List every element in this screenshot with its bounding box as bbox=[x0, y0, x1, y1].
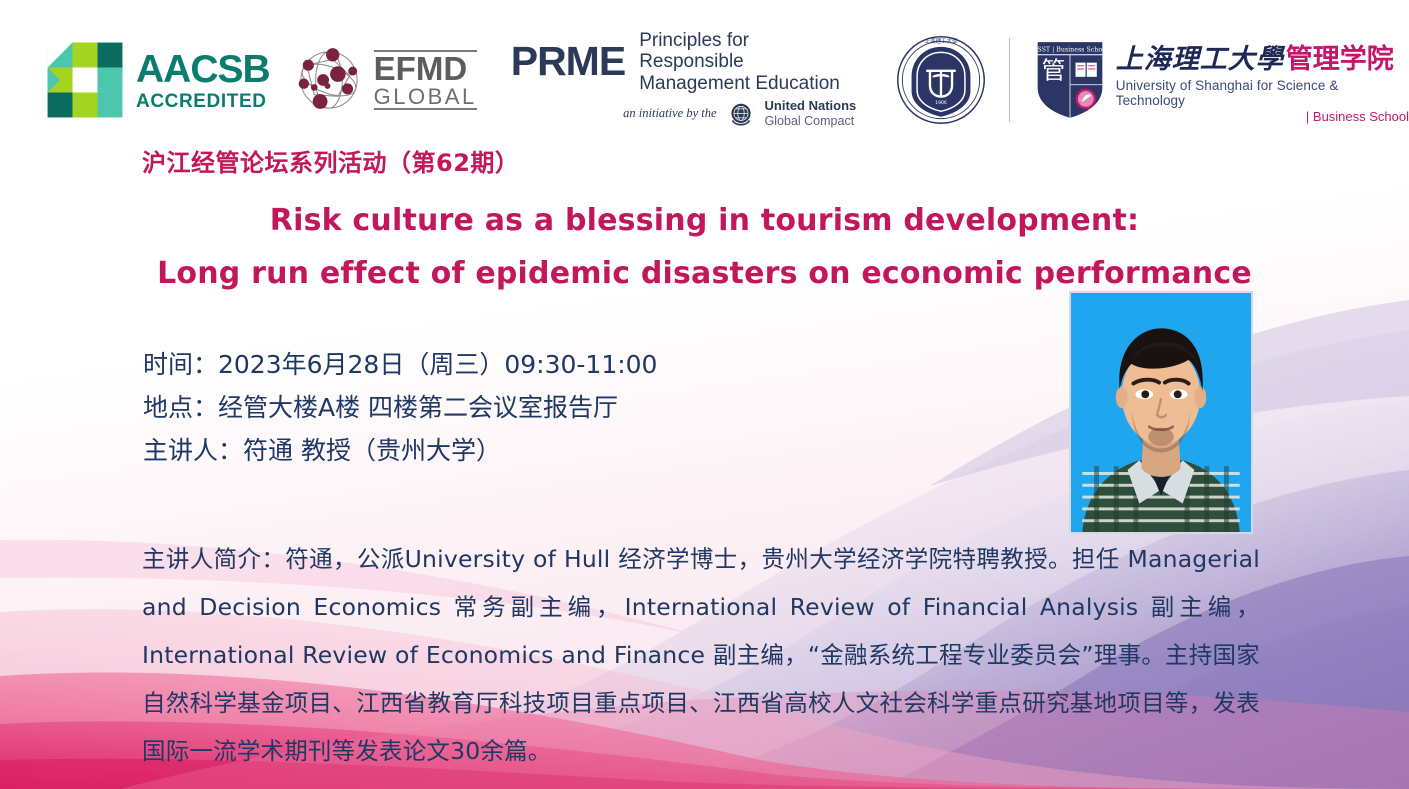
usst-cn-university-name: 上海理工大學 bbox=[1116, 37, 1284, 76]
efmd-network-globe-icon bbox=[292, 43, 366, 117]
efmd-logo: EFMD GLOBAL bbox=[292, 43, 477, 117]
efmd-wordmark: EFMD bbox=[374, 52, 477, 86]
prme-tagline-line2: Management Education bbox=[639, 73, 857, 94]
usst-business-school-crest-icon: USST | Business School 管 bbox=[1034, 39, 1106, 121]
seminar-poster: AACSB ACCREDITED bbox=[0, 0, 1409, 789]
title-line-1: Risk culture as a blessing in tourism de… bbox=[0, 195, 1409, 248]
prme-logo: PRME Principles for Responsible Manageme… bbox=[511, 30, 857, 130]
event-details: 时间：2023年6月28日（周三）09:30-11:00 地点：经管大楼A楼 四… bbox=[143, 343, 657, 472]
aacsb-accredited-label: ACCREDITED bbox=[136, 92, 270, 111]
svg-text:管: 管 bbox=[1041, 56, 1065, 84]
prme-tagline-line1: Principles for Responsible bbox=[639, 30, 857, 73]
aacsb-square-mark-icon bbox=[46, 41, 124, 119]
speaker-biography: 主讲人简介：符通，公派University of Hull 经济学博士，贵州大学… bbox=[142, 536, 1260, 776]
prme-wordmark: PRME bbox=[511, 38, 625, 85]
efmd-global-label: GLOBAL bbox=[374, 85, 477, 108]
usst-en-school-name: | Business School bbox=[1116, 109, 1409, 124]
usst-en-university-name: University of Shanghai for Science & Tec… bbox=[1116, 78, 1409, 108]
event-speaker: 主讲人：符通 教授（贵州大学） bbox=[143, 429, 657, 472]
speaker-portrait bbox=[1069, 291, 1253, 534]
un-global-compact-line1: United Nations bbox=[765, 99, 857, 114]
svg-text:1906: 1906 bbox=[935, 100, 947, 106]
usst-business-school-logo: USST | Business School 管 bbox=[1034, 37, 1409, 124]
un-globe-icon bbox=[725, 98, 757, 130]
svg-text:上海理工大學: 上海理工大學 bbox=[924, 37, 958, 45]
forum-series-label: 沪江经管论坛系列活动（第62期） bbox=[142, 143, 519, 178]
logo-divider bbox=[1009, 38, 1010, 122]
prme-initiative-label: an initiative by the bbox=[623, 106, 716, 121]
usst-university-seal-icon: 1906 上海理工大學 bbox=[895, 34, 987, 126]
aacsb-logo: AACSB ACCREDITED bbox=[46, 41, 270, 119]
usst-cn-school-name: 管理学院 bbox=[1286, 37, 1394, 76]
page-title: Risk culture as a blessing in tourism de… bbox=[0, 195, 1409, 300]
event-venue: 地点：经管大楼A楼 四楼第二会议室报告厅 bbox=[143, 386, 657, 429]
un-global-compact-line2: Global Compact bbox=[765, 114, 857, 128]
accreditation-logo-bar: AACSB ACCREDITED bbox=[0, 24, 1409, 136]
svg-text:USST | Business School: USST | Business School bbox=[1034, 47, 1106, 54]
aacsb-wordmark: AACSB bbox=[136, 50, 270, 89]
biography-text: 主讲人简介：符通，公派University of Hull 经济学博士，贵州大学… bbox=[142, 536, 1260, 776]
event-time: 时间：2023年6月28日（周三）09:30-11:00 bbox=[143, 343, 657, 386]
